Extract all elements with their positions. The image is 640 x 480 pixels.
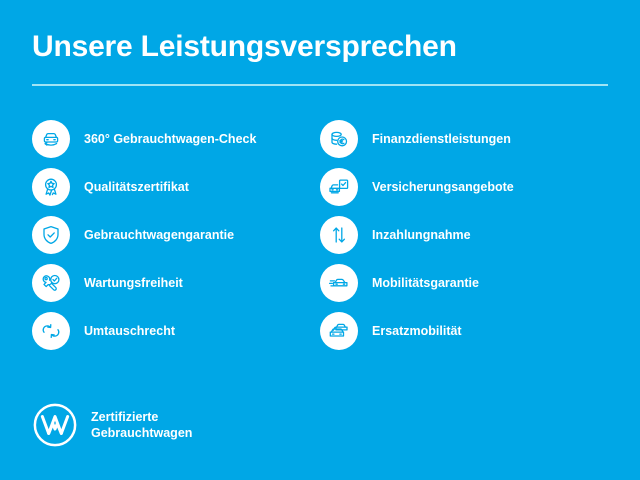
two-cars-icon [320, 312, 358, 350]
page-title: Unsere Leistungsversprechen [32, 28, 608, 66]
car-motion-icon [320, 264, 358, 302]
feature-label: Gebrauchtwagengarantie [84, 228, 234, 243]
shield-check-icon [32, 216, 70, 254]
volkswagen-logo-icon [32, 402, 78, 448]
feature-label: Finanzdienstleistungen [372, 132, 511, 147]
car-360-check-icon [32, 120, 70, 158]
feature-item: Wartungsfreiheit [32, 264, 320, 302]
feature-label: Inzahlungnahme [372, 228, 471, 243]
feature-label: Qualitätszertifikat [84, 180, 189, 195]
award-rosette-icon [32, 168, 70, 206]
feature-item: Versicherungsangebote [320, 168, 608, 206]
coins-euro-icon [320, 120, 358, 158]
feature-item: Qualitätszertifikat [32, 168, 320, 206]
promo-poster: Unsere Leistungsversprechen 360° Gebrauc… [0, 0, 640, 480]
brand-footer: Zertifizierte Gebrauchtwagen [32, 402, 192, 448]
feature-item: Ersatzmobilität [320, 312, 608, 350]
header: Unsere Leistungsversprechen [32, 28, 608, 66]
feature-label: 360° Gebrauchtwagen-Check [84, 132, 256, 147]
arrows-up-down-icon [320, 216, 358, 254]
feature-label: Ersatzmobilität [372, 324, 462, 339]
exchange-arrows-icon [32, 312, 70, 350]
car-clipboard-icon [320, 168, 358, 206]
header-divider [32, 84, 608, 86]
feature-item: Inzahlungnahme [320, 216, 608, 254]
feature-item: Mobilitätsgarantie [320, 264, 608, 302]
feature-label: Umtauschrecht [84, 324, 175, 339]
features-right-column: Finanzdienstleistungen Versicherungsange… [320, 120, 608, 350]
feature-item: Finanzdienstleistungen [320, 120, 608, 158]
features-grid: 360° Gebrauchtwagen-Check Qualitätszerti… [32, 120, 608, 350]
brand-line-2: Gebrauchtwagen [91, 425, 192, 441]
feature-label: Versicherungsangebote [372, 180, 514, 195]
features-left-column: 360° Gebrauchtwagen-Check Qualitätszerti… [32, 120, 320, 350]
feature-item: Gebrauchtwagengarantie [32, 216, 320, 254]
wrench-check-icon [32, 264, 70, 302]
brand-line-1: Zertifizierte [91, 409, 192, 425]
feature-label: Mobilitätsgarantie [372, 276, 479, 291]
feature-item: Umtauschrecht [32, 312, 320, 350]
brand-text: Zertifizierte Gebrauchtwagen [91, 409, 192, 441]
feature-label: Wartungsfreiheit [84, 276, 183, 291]
feature-item: 360° Gebrauchtwagen-Check [32, 120, 320, 158]
